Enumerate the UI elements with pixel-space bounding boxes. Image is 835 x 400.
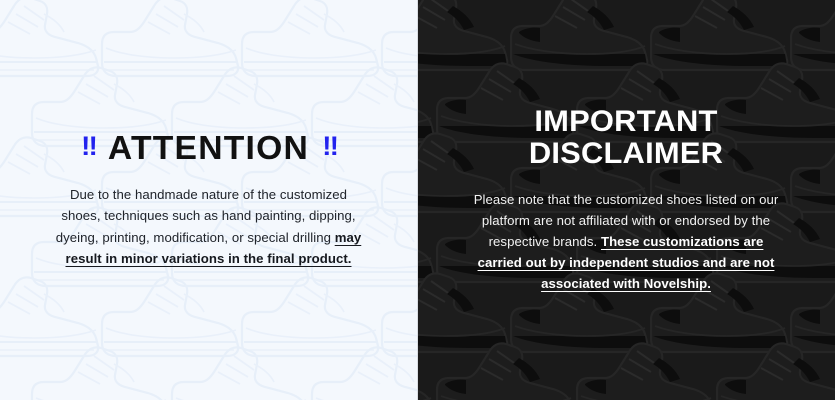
- attention-body-normal: Due to the handmade nature of the custom…: [56, 187, 356, 245]
- disclaimer-heading-line-1: IMPORTANT: [433, 106, 818, 138]
- customization-notice-banner: ‼ ATTENTION ‼ Due to the handmade nature…: [0, 0, 835, 400]
- disclaimer-body-text: Please note that the customized shoes li…: [467, 189, 785, 295]
- attention-panel: ‼ ATTENTION ‼ Due to the handmade nature…: [0, 0, 417, 400]
- attention-heading-word: ATTENTION: [108, 131, 309, 164]
- attention-heading: ‼ ATTENTION ‼: [18, 131, 398, 164]
- double-exclamation-right-icon: ‼: [322, 133, 336, 160]
- disclaimer-heading: IMPORTANT DISCLAIMER: [433, 106, 818, 171]
- double-exclamation-left-icon: ‼: [81, 133, 95, 160]
- disclaimer-panel: IMPORTANT DISCLAIMER Please note that th…: [417, 0, 835, 400]
- panel-divider: [417, 0, 418, 400]
- disclaimer-heading-line-2: DISCLAIMER: [433, 138, 818, 170]
- attention-body-text: Due to the handmade nature of the custom…: [54, 184, 364, 270]
